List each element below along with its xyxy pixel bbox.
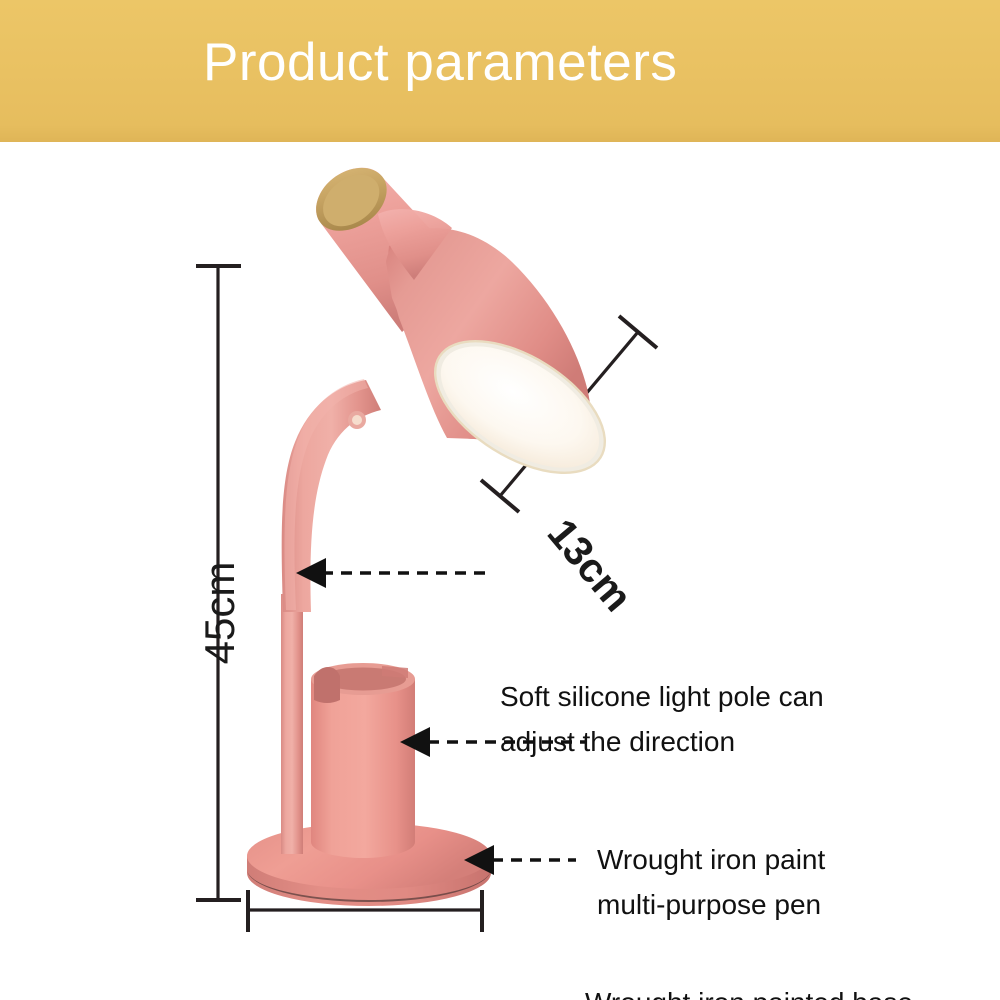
lamp-shade <box>378 209 627 500</box>
callout-text-pen: Wrought iron paint multi-purpose pen <box>597 837 825 927</box>
callout-arrow-pole <box>296 558 487 588</box>
pen-holder <box>311 663 415 858</box>
page-title: Product parameters <box>203 32 803 94</box>
illustration-stage: 45cm 15cm 13cm Soft silicone light pole … <box>0 142 1000 1000</box>
callout-text-pole: Soft silicone light pole can adjust the … <box>500 674 824 764</box>
height-dimension-label: 45cm <box>197 548 243 678</box>
product-parameters-infographic: Product parameters <box>0 0 1000 1000</box>
callout-text-base: Wrought iron painted base <box>585 980 913 1000</box>
lamp-illustration <box>0 142 1000 1000</box>
lamp-pole-lower <box>281 594 303 854</box>
header-banner: Product parameters <box>0 0 1000 142</box>
